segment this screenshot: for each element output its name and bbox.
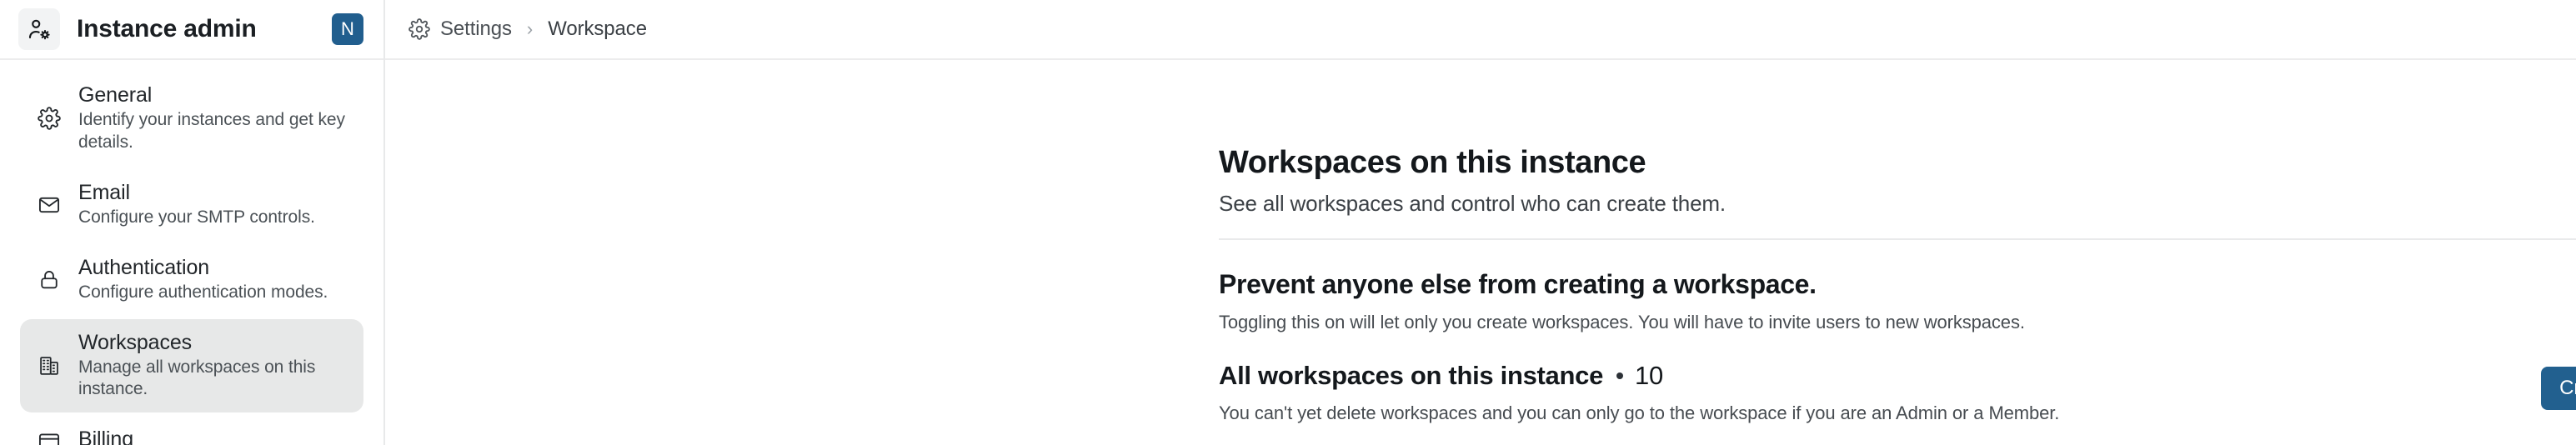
prevent-creation-texts: Prevent anyone else from creating a work… (1219, 240, 2025, 333)
sidebar-item-general[interactable]: General Identify your instances and get … (20, 72, 363, 166)
sidebar-nav: General Identify your instances and get … (0, 60, 383, 445)
breadcrumb: Settings › Workspace (408, 17, 647, 41)
user-cog-icon (18, 8, 60, 50)
prevent-creation-desc: Toggling this on will let only you creat… (1219, 312, 2025, 333)
sidebar-item-desc: Configure your SMTP controls. (78, 207, 315, 229)
envelope-icon (32, 193, 67, 217)
page-title: Workspaces on this instance (1219, 60, 2539, 181)
sidebar-item-texts: Billing (78, 427, 133, 445)
prevent-creation-title: Prevent anyone else from creating a work… (1219, 240, 2025, 300)
all-workspaces-title: All workspaces on this instance 10 (1219, 333, 2059, 391)
sidebar-item-authentication[interactable]: Authentication Configure authentication … (20, 244, 363, 316)
dot-separator-icon (1616, 372, 1623, 379)
chevron-right-icon: › (527, 20, 533, 38)
sidebar-item-label: General (78, 83, 345, 107)
sidebar-item-workspaces[interactable]: Workspaces Manage all workspaces on this… (20, 319, 363, 413)
gear-icon (408, 18, 430, 40)
sidebar-item-label: Workspaces (78, 331, 345, 354)
sidebar-item-email[interactable]: Email Configure your SMTP controls. (20, 169, 363, 241)
sidebar-item-desc: Identify your instances and get key deta… (78, 109, 345, 154)
all-workspaces-desc: You can't yet delete workspaces and you … (1219, 402, 2059, 424)
sidebar-item-label: Authentication (78, 256, 328, 279)
sidebar-item-label: Email (78, 181, 315, 204)
topbar: Settings › Workspace (385, 0, 2576, 60)
all-workspaces-title-text: All workspaces on this instance (1219, 362, 1603, 391)
prevent-creation-section: Prevent anyone else from creating a work… (1219, 240, 2576, 333)
sidebar: Instance admin N General Identify your i… (0, 0, 385, 445)
sidebar-header: Instance admin N (0, 0, 383, 60)
page-header-block: Workspaces on this instance See all work… (1219, 60, 2539, 240)
page-subtitle: See all workspaces and control who can c… (1219, 191, 2539, 217)
sidebar-item-label: Billing (78, 427, 133, 445)
admin-settings-page: Instance admin N General Identify your i… (0, 0, 2576, 445)
card-icon (32, 429, 67, 445)
lock-icon (32, 268, 67, 292)
sidebar-item-desc: Manage all workspaces on this instance. (78, 357, 345, 402)
sidebar-title: Instance admin (77, 15, 257, 43)
sidebar-item-desc: Configure authentication modes. (78, 282, 328, 304)
instance-badge[interactable]: N (332, 13, 363, 45)
create-workspace-button[interactable]: Create workspace (2541, 367, 2576, 410)
breadcrumb-root[interactable]: Settings (440, 17, 512, 41)
breadcrumb-current: Workspace (548, 17, 647, 41)
gear-icon (32, 107, 67, 130)
sidebar-item-texts: General Identify your instances and get … (78, 83, 345, 154)
all-workspaces-section: All workspaces on this instance 10 You c… (1219, 333, 2576, 424)
main-content: Settings › Workspace Workspaces on this … (385, 0, 2576, 445)
content-area: Workspaces on this instance See all work… (385, 60, 2576, 424)
sidebar-item-texts: Workspaces Manage all workspaces on this… (78, 331, 345, 402)
sidebar-item-texts: Authentication Configure authentication … (78, 256, 328, 304)
building-icon (32, 354, 67, 377)
sidebar-item-texts: Email Configure your SMTP controls. (78, 181, 315, 229)
sidebar-item-billing[interactable]: Billing (20, 416, 363, 445)
all-workspaces-texts: All workspaces on this instance 10 You c… (1219, 333, 2059, 424)
workspace-count: 10 (1635, 362, 1663, 391)
